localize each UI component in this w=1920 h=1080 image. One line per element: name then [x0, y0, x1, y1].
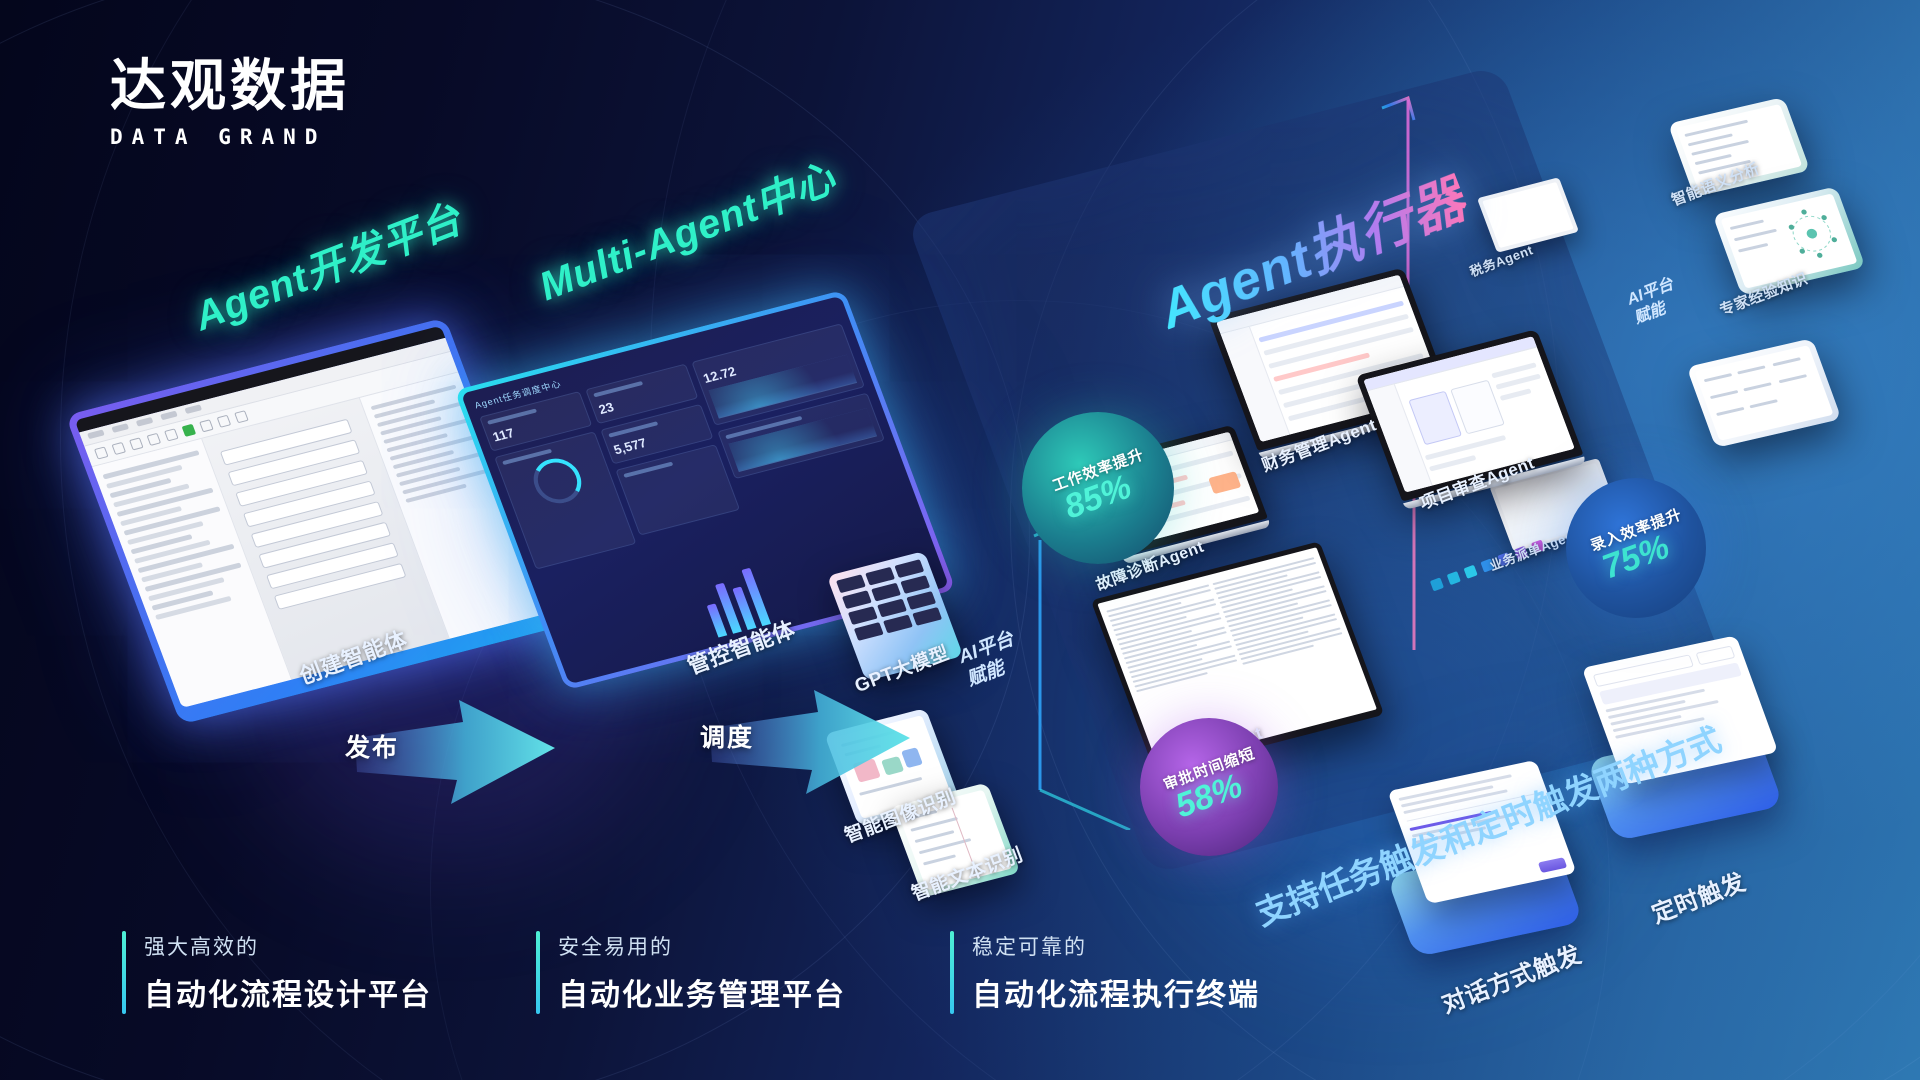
knowledge-graph-icon: [1773, 200, 1850, 268]
bottom-captions: 强大高效的 自动化流程设计平台 安全易用的 自动化业务管理平台 稳定可靠的 自动…: [122, 931, 1260, 1014]
caption-title: 自动化流程设计平台: [144, 970, 432, 1014]
brand-logo: 达观数据 DATA GRAND: [110, 58, 350, 149]
arrow-label-schedule: 调度: [700, 718, 754, 754]
stat-badge-data-entry: 录入效率提升 75%: [1566, 478, 1706, 618]
knowledge-tablet-extra[interactable]: [1686, 338, 1841, 448]
caption-item-design: 强大高效的 自动化流程设计平台: [122, 931, 432, 1014]
caption-subtitle: 安全易用的: [558, 931, 846, 961]
caption-title: 自动化业务管理平台: [558, 970, 846, 1014]
stat-badge-efficiency: 工作效率提升 85%: [1022, 412, 1174, 564]
brand-name-cn: 达观数据: [110, 58, 350, 117]
caption-title: 自动化流程执行终端: [972, 970, 1260, 1014]
brand-name-en: DATA GRAND: [110, 125, 350, 149]
label-trigger-timed: 定时触发: [1646, 862, 1750, 930]
infographic-canvas: 达观数据 DATA GRAND Agent开发平台 Multi-Agent中心 …: [0, 0, 1920, 1080]
section-title-multi-agent: Multi-Agent中心: [530, 146, 843, 312]
trigger-send-button[interactable]: [1538, 857, 1567, 873]
arrow-label-publish: 发布: [345, 728, 399, 764]
sparkline-chart: [728, 408, 877, 472]
gauge-ring: [527, 453, 588, 508]
caption-accent-bar: [122, 931, 126, 1014]
caption-subtitle: 强大高效的: [144, 931, 432, 961]
stat-badge-approval-time: 审批时间缩短 58%: [1140, 718, 1278, 856]
tablet-preview: [1694, 345, 1833, 441]
caption-subtitle: 稳定可靠的: [972, 931, 1260, 961]
gpt-model-grid: [836, 559, 942, 641]
section-title-dev-platform: Agent开发平台: [185, 187, 469, 342]
caption-item-execution: 稳定可靠的 自动化流程执行终端: [950, 931, 1260, 1014]
caption-accent-bar: [536, 931, 540, 1014]
caption-accent-bar: [950, 931, 954, 1014]
caption-item-management: 安全易用的 自动化业务管理平台: [536, 931, 846, 1014]
